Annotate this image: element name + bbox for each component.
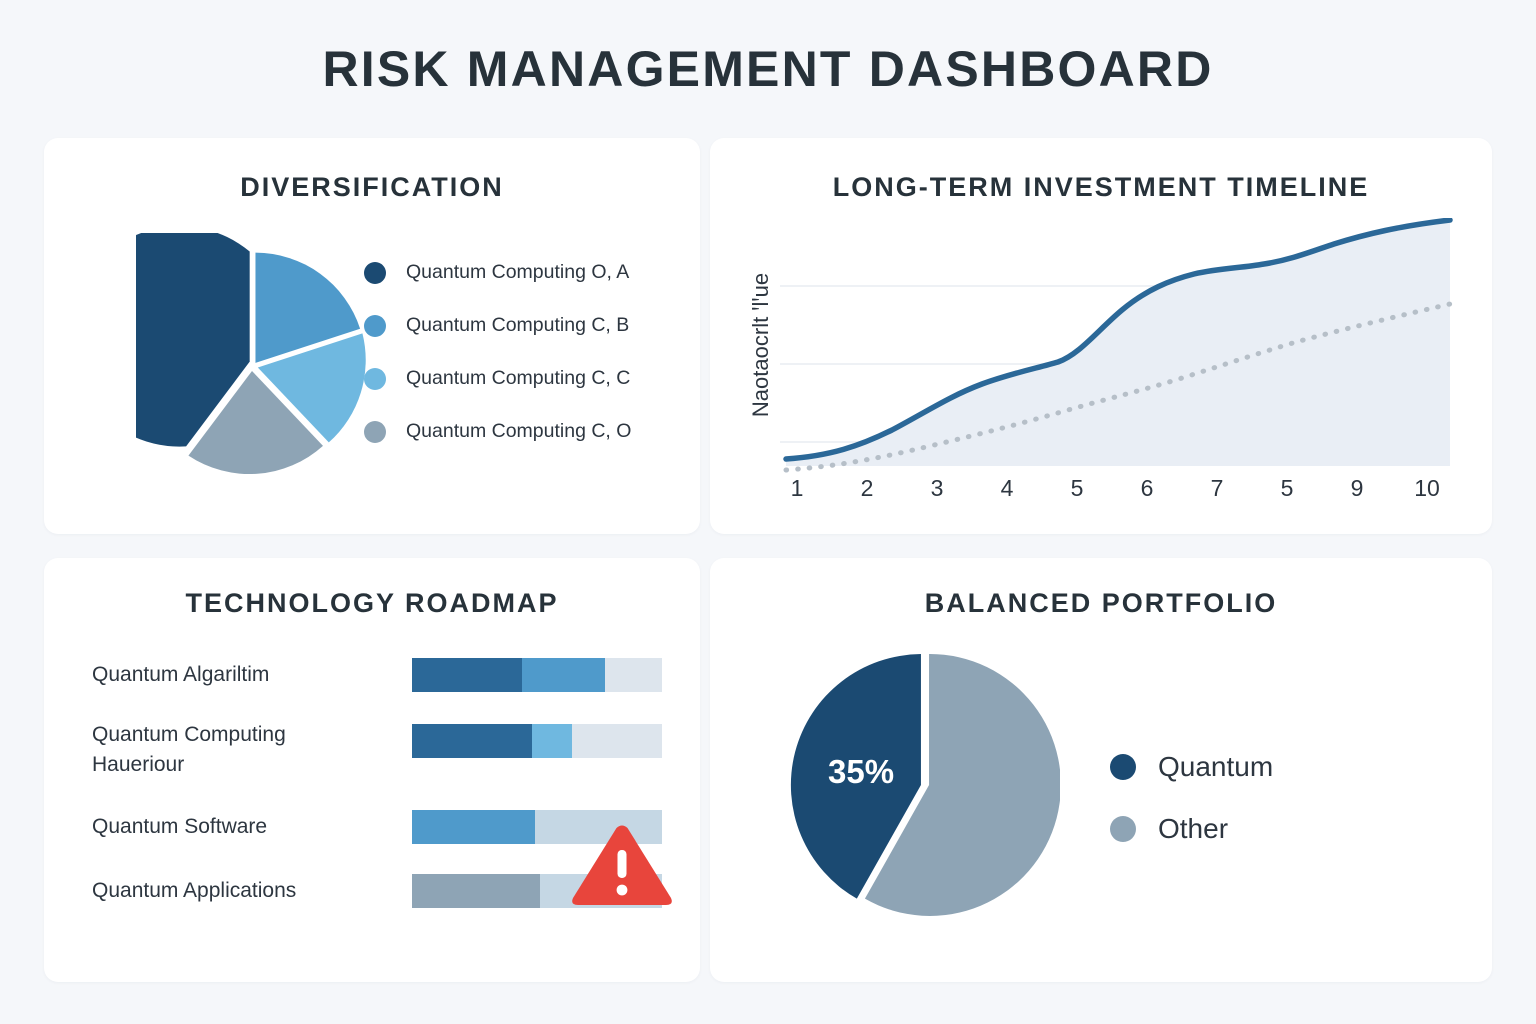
legend-item[interactable]: Quantum Computing O, A bbox=[364, 246, 694, 299]
card-roadmap: TECHNOLOGY ROADMAP Quantum Algariltim Qu… bbox=[44, 558, 700, 982]
legend-item-label: Quantum Computing C, O bbox=[406, 420, 631, 443]
x-tick: 4 bbox=[992, 475, 1022, 502]
x-tick: 10 bbox=[1412, 475, 1442, 502]
card-title-roadmap: TECHNOLOGY ROADMAP bbox=[44, 588, 700, 619]
legend-diversification: Quantum Computing O, A Quantum Computing… bbox=[364, 246, 694, 458]
legend-item[interactable]: Quantum Computing C, B bbox=[364, 299, 694, 352]
card-timeline: LONG-TERM INVESTMENT TIMELINE Naotaocrlt… bbox=[710, 138, 1492, 534]
legend-item[interactable]: Quantum bbox=[1110, 736, 1273, 798]
legend-item-label: Quantum Computing C, C bbox=[406, 367, 630, 390]
bar-segment bbox=[412, 724, 532, 758]
y-axis-label: Naotaocrlt ꞌlꞌue bbox=[748, 0, 774, 230]
roadmap-row-label: Quantum Algariltim bbox=[92, 660, 412, 690]
roadmap-label-line: Haueriour bbox=[92, 750, 412, 780]
x-tick: 3 bbox=[922, 475, 952, 502]
bar-segment bbox=[412, 658, 522, 692]
card-portfolio: BALANCED PORTFOLIO 35% Quantum Other bbox=[710, 558, 1492, 982]
bar-segment-track bbox=[605, 658, 663, 692]
legend-color-swatch bbox=[364, 262, 386, 284]
x-tick: 6 bbox=[1132, 475, 1162, 502]
roadmap-label-line: Quantum Software bbox=[92, 812, 412, 842]
x-tick: 5 bbox=[1062, 475, 1092, 502]
roadmap-progress-bar bbox=[412, 658, 662, 692]
legend-item-label: Quantum Computing C, B bbox=[406, 314, 629, 337]
legend-color-swatch bbox=[1110, 754, 1136, 780]
roadmap-row-label: Quantum Applications bbox=[92, 876, 412, 906]
roadmap-label-line: Quantum Computing bbox=[92, 720, 412, 750]
pie2-data-label: 35% bbox=[828, 753, 894, 791]
x-tick: 2 bbox=[852, 475, 882, 502]
x-tick: 7 bbox=[1202, 475, 1232, 502]
roadmap-label-line: Quantum Applications bbox=[92, 876, 412, 906]
x-tick: 1 bbox=[782, 475, 812, 502]
dashboard-root: RISK MANAGEMENT DASHBOARD DIVERSIFICATIO… bbox=[0, 0, 1536, 1024]
x-tick: 9 bbox=[1342, 475, 1372, 502]
line-chart-svg bbox=[750, 218, 1460, 518]
card-title-portfolio: BALANCED PORTFOLIO bbox=[710, 588, 1492, 619]
roadmap-row-label: Quantum Software bbox=[92, 812, 412, 842]
x-axis-ticks: 1 2 3 4 5 6 7 5 9 10 bbox=[782, 475, 1442, 502]
legend-color-swatch bbox=[364, 315, 386, 337]
legend-color-swatch bbox=[364, 421, 386, 443]
line-chart-timeline bbox=[750, 218, 1460, 518]
warning-triangle-icon[interactable] bbox=[569, 822, 675, 908]
bar-segment bbox=[522, 658, 605, 692]
card-diversification: DIVERSIFICATION Quantum Computing O, A Q… bbox=[44, 138, 700, 534]
legend-color-swatch bbox=[1110, 816, 1136, 842]
roadmap-label-line: Quantum Algariltim bbox=[92, 660, 412, 690]
roadmap-row[interactable]: Quantum Computing Haueriour bbox=[92, 720, 672, 780]
bar-segment bbox=[532, 724, 572, 758]
roadmap-row[interactable]: Quantum Algariltim bbox=[92, 658, 672, 692]
warning-exclamation-dot bbox=[617, 885, 628, 896]
pie-chart-diversification bbox=[94, 228, 344, 498]
legend-portfolio: Quantum Other bbox=[1110, 736, 1273, 860]
legend-item[interactable]: Quantum Computing C, C bbox=[364, 352, 694, 405]
area-fill bbox=[786, 220, 1450, 466]
legend-item-label: Other bbox=[1158, 813, 1228, 845]
warning-exclamation-bar bbox=[618, 850, 627, 878]
legend-item[interactable]: Quantum Computing C, O bbox=[364, 405, 694, 458]
pie1-svg bbox=[136, 233, 368, 495]
card-title-timeline: LONG-TERM INVESTMENT TIMELINE bbox=[710, 172, 1492, 203]
legend-color-swatch bbox=[364, 368, 386, 390]
roadmap-row-label: Quantum Computing Haueriour bbox=[92, 720, 412, 780]
bar-segment bbox=[412, 810, 535, 844]
card-title-diversification: DIVERSIFICATION bbox=[44, 172, 700, 203]
x-tick: 5 bbox=[1272, 475, 1302, 502]
legend-item-label: Quantum Computing O, A bbox=[406, 261, 629, 284]
legend-item-label: Quantum bbox=[1158, 751, 1273, 783]
bar-segment bbox=[412, 874, 540, 908]
legend-item[interactable]: Other bbox=[1110, 798, 1273, 860]
roadmap-progress-bar bbox=[412, 724, 662, 758]
bar-segment-track bbox=[572, 724, 662, 758]
